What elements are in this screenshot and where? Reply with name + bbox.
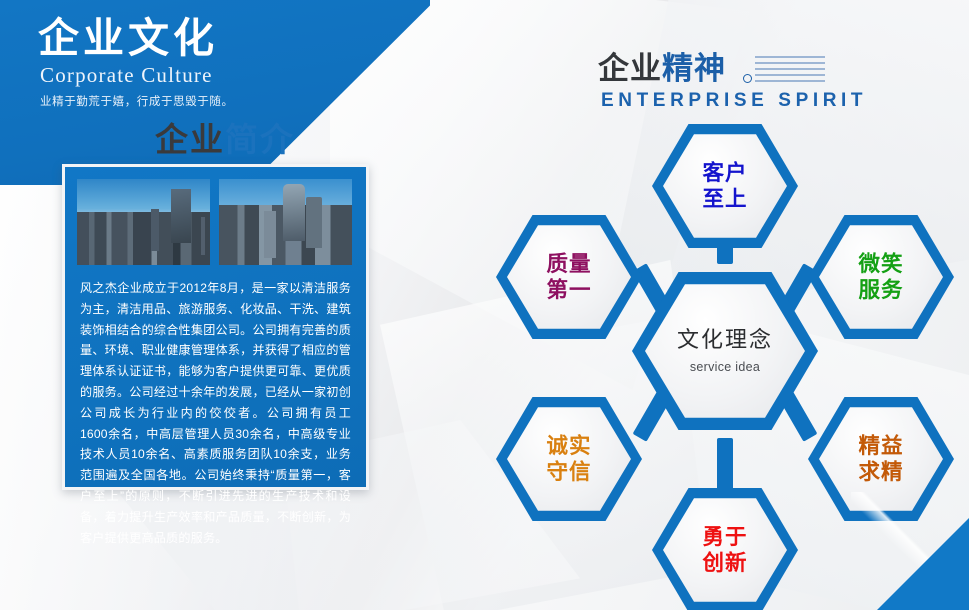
- hexagon-cluster: 文化理念 service idea 客户 至上 微笑 服务: [496, 108, 966, 608]
- hex-label-line1: 客户: [702, 160, 747, 186]
- hex-center-label-en: service idea: [690, 360, 760, 375]
- hex-quality-first[interactable]: 质量 第一: [496, 211, 642, 343]
- decorative-text-block: [755, 56, 825, 84]
- hex-label-line1: 诚实: [546, 433, 591, 459]
- hex-label-line2: 第一: [546, 277, 591, 303]
- hex-smile-service[interactable]: 微笑 服务: [808, 211, 954, 343]
- hex-integrity[interactable]: 诚实 守信: [496, 393, 642, 525]
- hex-label-line1: 质量: [546, 251, 591, 277]
- hex-label: 精益 求精: [808, 393, 954, 525]
- hex-label: 微笑 服务: [808, 211, 954, 343]
- spirit-title-dark: 企业: [598, 51, 662, 86]
- hex-center-culture-concept[interactable]: 文化理念 service idea: [632, 267, 818, 435]
- hex-label: 质量 第一: [496, 211, 642, 343]
- intro-card: 风之杰企业成立于2012年8月，是一家以清洁服务为主，清洁用品、旅游服务、化妆品…: [62, 164, 369, 490]
- hex-label-line2: 至上: [702, 186, 747, 212]
- skyscrapers-photo: [219, 179, 352, 265]
- banner-title-cn: 企业文化: [38, 14, 234, 62]
- hex-center-label: 文化理念 service idea: [632, 267, 818, 435]
- slide-canvas: 企业文化 Corporate Culture 业精于勤荒于嬉，行成于思毁于随。 …: [0, 0, 969, 610]
- hex-customer-first[interactable]: 客户 至上: [652, 120, 798, 252]
- banner-title-en: Corporate Culture: [38, 63, 234, 88]
- spirit-title-blue: 精神: [662, 51, 726, 86]
- hex-label: 诚实 守信: [496, 393, 642, 525]
- city-skyline-photo: [77, 179, 210, 265]
- hex-label-line2: 守信: [546, 459, 591, 485]
- hex-label-line1: 精益: [858, 433, 903, 459]
- intro-photo-row: [65, 167, 366, 265]
- hex-label-line1: 微笑: [858, 251, 903, 277]
- hex-label-line1: 勇于: [702, 524, 747, 550]
- intro-section-title: 企业简介: [155, 113, 295, 161]
- header-banner-text: 企业文化 Corporate Culture 业精于勤荒于嬉，行成于思毁于随。: [38, 14, 234, 109]
- hex-center-label-cn: 文化理念: [677, 327, 773, 354]
- hex-excellence[interactable]: 精益 求精: [808, 393, 954, 525]
- spirit-section-title: 企业精神 ENTERPRISE SPIRIT: [598, 52, 867, 112]
- hex-label: 客户 至上: [652, 120, 798, 252]
- circle-mark-icon: [743, 74, 752, 83]
- hex-label-line2: 服务: [858, 277, 903, 303]
- hex-label-line2: 求精: [858, 459, 903, 485]
- spirit-title-cn-wrap: 企业精神: [598, 52, 867, 86]
- hex-label-line2: 创新: [702, 550, 747, 576]
- hex-label: 勇于 创新: [652, 484, 798, 610]
- hex-innovation[interactable]: 勇于 创新: [652, 484, 798, 610]
- intro-title-dark: 企业: [155, 121, 225, 158]
- intro-title-blue: 简介: [225, 121, 295, 158]
- intro-body-text: 风之杰企业成立于2012年8月，是一家以清洁服务为主，清洁用品、旅游服务、化妆品…: [65, 265, 366, 548]
- banner-tagline: 业精于勤荒于嬉，行成于思毁于随。: [38, 93, 234, 109]
